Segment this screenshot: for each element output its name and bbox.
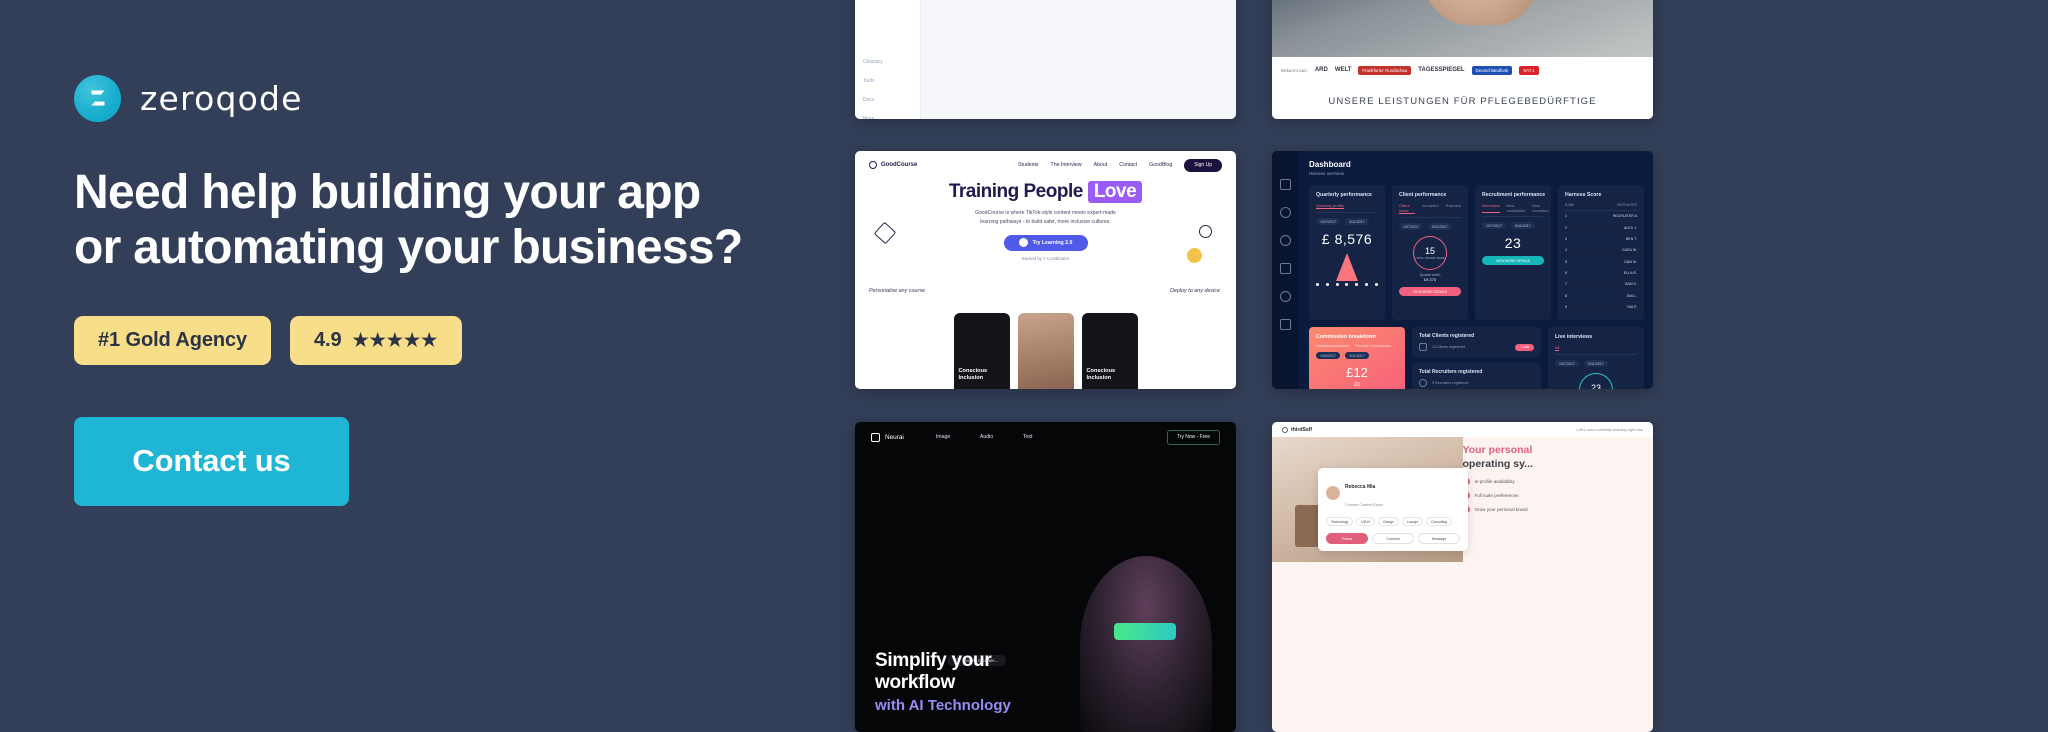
kpi-quarterly-performance: Quarterly performance Quarterly profits … xyxy=(1309,185,1385,320)
goodcourse-logo-text: GoodCourse xyxy=(881,162,917,168)
chart-peak xyxy=(1336,253,1358,281)
table-row: 4CARA W. xyxy=(1565,245,1637,256)
project-gallery: Glossary Tools Docs More Matic $0.47 BSC xyxy=(855,0,2048,732)
kpi-date-range[interactable]: 1/07/2017 5/11/2017 xyxy=(1482,222,1544,229)
badge-gold-agency-label: #1 Gold Agency xyxy=(98,329,247,352)
badge-rating: 4.9 ★★★★★ xyxy=(290,316,462,365)
active-users-note: 1,851 users currently cleaning right now xyxy=(1576,428,1643,432)
nav-item-the-interview[interactable]: The Interview xyxy=(1051,162,1082,168)
commission-tabs[interactable]: Harness commission Recruiter Commission xyxy=(1316,344,1398,348)
neurai-headline-2: workflow xyxy=(875,672,1011,695)
crypto-nav-item[interactable]: Glossary xyxy=(863,59,883,65)
dashboard-stat-column: Total Clients registered 13 Clients regi… xyxy=(1412,327,1541,389)
press-prefix: Bekannt aus: xyxy=(1281,68,1308,73)
message-button[interactable]: Message xyxy=(1418,533,1460,544)
date-to[interactable]: 3/11/2017 xyxy=(1345,352,1369,359)
nav-item-image[interactable]: Image xyxy=(936,434,950,440)
rank-number: 5 xyxy=(1565,260,1567,264)
table-row: 8AVA L. xyxy=(1565,291,1637,302)
profile-name: Rebecca Mia xyxy=(1345,484,1375,490)
tab-rejected[interactable]: Rejected xyxy=(1446,203,1461,214)
brand-name: zeroqode xyxy=(140,79,303,118)
live-interviews-title: Live interviews xyxy=(1555,334,1637,340)
gallery-card-crypto-dashboard[interactable]: Glossary Tools Docs More Matic $0.47 BSC xyxy=(855,0,1236,119)
stat-badge: 7 new xyxy=(1515,344,1534,351)
goodcourse-headline: Training People Love xyxy=(949,181,1142,203)
rank-number: 3 xyxy=(1565,237,1567,241)
note-personalise: Personalise any course xyxy=(869,288,925,295)
neurai-logo[interactable]: Neurai xyxy=(871,433,904,442)
avatar xyxy=(1187,248,1202,263)
col-rank: RANK xyxy=(1565,203,1574,207)
zeroqode-z-icon xyxy=(74,75,121,122)
stat-title: Total Clients registered xyxy=(1419,333,1534,339)
date-from[interactable]: 1/07/2017 xyxy=(1555,360,1579,367)
date-from[interactable]: 1/09/2017 xyxy=(1316,352,1340,359)
live-interviews-card: Live interviews All 1/07/2017 5/11/2017 … xyxy=(1548,327,1644,389)
live-interviews-value: 23 xyxy=(1591,383,1601,389)
date-from[interactable]: 1/07/2017 xyxy=(1316,218,1340,225)
tab-all[interactable]: All xyxy=(1555,345,1559,351)
headline-line-1: Your personal xyxy=(1463,444,1533,456)
rank-number: 9 xyxy=(1565,305,1567,309)
date-to[interactable]: 5/11/2017 xyxy=(1511,222,1535,229)
kpi-title: Recruitment performance xyxy=(1482,192,1544,198)
tab-offers-made[interactable]: Offers made xyxy=(1399,203,1415,214)
axis-dot xyxy=(1326,283,1329,286)
commission-value: £12 xyxy=(1316,365,1398,380)
briefcase-icon xyxy=(1419,343,1427,351)
date-from[interactable]: 1/07/2017 xyxy=(1399,223,1423,230)
doodle-circle-icon xyxy=(1199,225,1212,238)
axis-dot xyxy=(1375,283,1378,286)
bullet-text: Grow your personal brand xyxy=(1475,507,1528,512)
goodcourse-subtitle: GoodCourse is where TikTok-style content… xyxy=(855,209,1236,227)
rank-name: BEN T. xyxy=(1626,237,1637,241)
view-details-button[interactable]: VIEW MORE DETAILS xyxy=(1482,256,1544,265)
neurai-navbar[interactable]: Neurai Image · Audio · Text Try Now - Fr… xyxy=(855,422,1236,452)
briefcase-icon xyxy=(1019,238,1028,247)
goodcourse-logo[interactable]: GoodCourse xyxy=(869,161,917,169)
thirdself-topbar[interactable]: thirdSelf 1,851 users currently cleaning… xyxy=(1272,422,1653,437)
goodcourse-ring-icon xyxy=(869,161,877,169)
table-row: 9NIA P. xyxy=(1565,302,1637,313)
live-interviews-date-range[interactable]: 1/07/2017 5/11/2017 xyxy=(1555,360,1637,367)
bullet-text: In-profile availability xyxy=(1475,479,1515,484)
kpi-title: Quarterly performance xyxy=(1316,192,1378,198)
hero-section: zeroqode Need help building your app or … xyxy=(0,0,855,732)
phone-mockup-center xyxy=(1018,313,1074,389)
stat-total-clients: Total Clients registered 13 Clients regi… xyxy=(1412,327,1541,357)
dashboard-body: Dashboard Harness overview Quarterly per… xyxy=(1298,151,1653,389)
view-details-button[interactable]: VIEW MORE DETAILS xyxy=(1399,287,1461,296)
connect-button[interactable]: Connect xyxy=(1372,533,1414,544)
rank-name: CARA W. xyxy=(1622,248,1637,252)
badge-gold-agency: #1 Gold Agency xyxy=(74,316,271,365)
table-row: 2ALEX J. xyxy=(1565,222,1637,233)
tag: UI/UX xyxy=(1356,517,1375,526)
gallery-card-neurai[interactable]: Neurai Image · Audio · Text Try Now - Fr… xyxy=(855,422,1236,732)
contact-us-button[interactable]: Contact us xyxy=(74,417,349,506)
kpi-title: Client performance xyxy=(1399,192,1461,198)
press-logo: SAT.1 xyxy=(1519,66,1538,75)
phone-caption: Conscious Inclusion xyxy=(1087,368,1133,382)
gallery-card-thirdself[interactable]: thirdSelf 1,851 users currently cleaning… xyxy=(1272,422,1653,732)
star-icon-group: ★★★★★ xyxy=(353,331,439,349)
phone-mockup-left: Conscious Inclusion xyxy=(954,313,1010,389)
kpi-chart xyxy=(1316,251,1378,281)
profile-role: Creative Content Expert xyxy=(1345,503,1383,507)
stat-line: 13 Clients registered 7 new xyxy=(1419,343,1534,351)
feature-bullet: Grow your personal brand xyxy=(1463,506,1644,513)
nav-separator: · xyxy=(964,434,966,440)
crypto-sidebar-nav[interactable]: Glossary Tools Docs More xyxy=(863,59,883,119)
goodcourse-hero: Training People Love GoodCourse is where… xyxy=(855,181,1236,261)
care-services-strip: UNSERE LEISTUNGEN FÜR PFLEGEBEDÜRFTIGE xyxy=(1272,83,1653,119)
rank-name: AVA L. xyxy=(1627,294,1637,298)
tab-recruiter-commission[interactable]: Recruiter Commission xyxy=(1355,344,1390,348)
tag: Design xyxy=(1378,517,1399,526)
care-photo xyxy=(1272,0,1653,57)
headline-line-1: Need help building your app xyxy=(74,165,834,220)
kpi-tabs[interactable]: Offers made Accepted Rejected xyxy=(1399,203,1461,218)
stat-total-recruiters: Total Recruiters registered 9 Recruiters… xyxy=(1412,363,1541,389)
kpi-value: 23 xyxy=(1482,235,1544,251)
try-learning-button[interactable]: Try Learning 2.0 xyxy=(1004,235,1088,251)
commission-title: Commission breakdown xyxy=(1316,334,1398,340)
crypto-body: Matic $0.47 BSC $1.24 Celo $0.41 xyxy=(921,0,1236,119)
crypto-nav-item[interactable]: More xyxy=(863,116,883,119)
date-to[interactable]: 5/11/2017 xyxy=(1428,223,1452,230)
axis-dot xyxy=(1345,283,1348,286)
press-logo-row: Bekannt aus: ARD WELT Frankfurter Rundsc… xyxy=(1272,57,1653,83)
phone-caption: Conscious Inclusion xyxy=(959,368,1005,382)
tab-new-recruiters[interactable]: New recruiters xyxy=(1532,203,1548,213)
care-services-text: UNSERE LEISTUNGEN FÜR PFLEGEBEDÜRFTIGE xyxy=(1328,96,1596,107)
tag: Lounge xyxy=(1402,517,1423,526)
try-now-free-button[interactable]: Try Now - Free xyxy=(1167,430,1220,445)
network-icon[interactable] xyxy=(1280,235,1291,246)
commission-date-range[interactable]: 1/09/2017 3/11/2017 xyxy=(1316,352,1398,359)
rank-name: NIA P. xyxy=(1627,305,1637,309)
kpi-value: £ 8,576 xyxy=(1316,231,1378,247)
bullet-text: Full suite preferences xyxy=(1475,493,1519,498)
press-logo: TAGESSPIEGEL xyxy=(1418,67,1464,73)
backed-by-label: Backed by Y Combinator xyxy=(855,256,1236,261)
feature-bullet: In-profile availability xyxy=(1463,478,1644,485)
axis-dot xyxy=(1336,283,1339,286)
headline-plain: Training People xyxy=(949,181,1083,203)
press-logo: ARD xyxy=(1315,67,1328,73)
care-photo-face xyxy=(1417,0,1547,25)
stat-text: 13 Clients registered xyxy=(1432,345,1465,349)
thirdself-mark-icon xyxy=(1282,427,1288,433)
note-deploy: Deploy to any device xyxy=(1170,288,1220,295)
target-icon[interactable] xyxy=(1280,207,1291,218)
follow-button[interactable]: Follow xyxy=(1326,533,1368,544)
goodcourse-navbar[interactable]: GoodCourse Students The Interview About … xyxy=(855,151,1236,179)
table-row: 3BEN T. xyxy=(1565,234,1637,245)
nav-item-audio[interactable]: Audio xyxy=(980,434,993,440)
home-icon[interactable] xyxy=(1280,179,1291,190)
tab-new-candidates[interactable]: New candidates xyxy=(1507,203,1526,213)
avatar xyxy=(1326,486,1340,500)
table-row: 6ELLA R. xyxy=(1565,268,1637,279)
col-recruiter: RECRUITER xyxy=(1617,203,1637,207)
profile-card: Rebecca Mia Creative Content Expert Tech… xyxy=(1318,468,1468,551)
thirdself-logo-text: thirdSelf xyxy=(1291,427,1312,433)
rank-name: RECRUITER A xyxy=(1613,214,1637,218)
live-interviews-donut: 23 TOTAL INTERVIEWS xyxy=(1579,373,1613,389)
dashboard-kpi-row: Quarterly performance Quarterly profits … xyxy=(1309,185,1644,320)
rank-name: DAN M. xyxy=(1624,260,1637,264)
try-learning-label: Try Learning 2.0 xyxy=(1033,240,1073,246)
neurai-headline-1: Simplify your xyxy=(875,650,1011,673)
neurai-portrait xyxy=(1080,556,1212,732)
tag: Consulting xyxy=(1426,517,1452,526)
kpi-value: 15 xyxy=(1425,246,1435,256)
profile-header: Rebecca Mia Creative Content Expert xyxy=(1326,475,1460,511)
commission-breakdown-card: Commission breakdown Harness commission … xyxy=(1309,327,1405,389)
tab-quarterly-profits[interactable]: Quarterly profits xyxy=(1316,203,1344,209)
chart-icon[interactable] xyxy=(1280,319,1291,330)
page-title: Need help building your app or automatin… xyxy=(74,165,834,276)
date-to[interactable]: 5/11/2017 xyxy=(1345,218,1369,225)
rank-name: SAM K. xyxy=(1625,282,1637,286)
axis-dot xyxy=(1316,283,1319,286)
neurai-logo-text: Neurai xyxy=(885,434,904,441)
phone-mockup-right: Conscious Inclusion xyxy=(1082,313,1138,389)
harness-score-header: RANK RECRUITER xyxy=(1565,203,1637,211)
dashboard-second-row: Commission breakdown Harness commission … xyxy=(1309,327,1644,389)
rank-name: ELLA R. xyxy=(1624,271,1637,275)
harness-score-panel: Harness Score RANK RECRUITER 1RECRUITER … xyxy=(1558,185,1644,320)
quarter-worth-value: £9,375 xyxy=(1399,277,1461,282)
headline-line-2: operating sy... xyxy=(1463,458,1533,470)
profile-tags: Technology UI/UX Design Lounge Consultin… xyxy=(1326,517,1460,526)
rank-number: 4 xyxy=(1565,248,1567,252)
table-row: 7SAM K. xyxy=(1565,279,1637,290)
table-row: 5DAN M. xyxy=(1565,257,1637,268)
table-row: 1RECRUITER A xyxy=(1565,211,1637,222)
phone-mockups: Conscious Inclusion Conscious Inclusion xyxy=(889,313,1202,389)
crypto-nav-item[interactable]: Docs xyxy=(863,97,883,103)
harness-score-title: Harness Score xyxy=(1565,192,1637,198)
nav-item-text[interactable]: Text xyxy=(1023,434,1033,440)
brand-logo[interactable]: zeroqode xyxy=(74,74,855,122)
date-to[interactable]: 5/11/2017 xyxy=(1584,360,1608,367)
kpi-date-range[interactable]: 1/07/2017 5/11/2017 xyxy=(1316,218,1378,225)
nav-separator: · xyxy=(1007,434,1009,440)
commission-secondary: £0 xyxy=(1316,382,1398,388)
thirdself-logo[interactable]: thirdSelf xyxy=(1282,427,1312,433)
neurai-hero-text: Simplify your workflow with AI Technolog… xyxy=(875,650,1011,716)
date-from[interactable]: 1/07/2017 xyxy=(1482,222,1506,229)
profile-actions[interactable]: Follow Connect Message xyxy=(1326,533,1460,544)
axis-dot xyxy=(1355,283,1358,286)
kpi-tabs[interactable]: Quarterly profits xyxy=(1316,203,1378,213)
tab-accepted[interactable]: Accepted xyxy=(1422,203,1438,214)
kpi-axis xyxy=(1316,283,1378,286)
crypto-sidebar[interactable]: Glossary Tools Docs More xyxy=(855,0,921,119)
axis-dot xyxy=(1365,283,1368,286)
stat-line: 9 Recruiters registered xyxy=(1419,379,1534,387)
stat-text: 9 Recruiters registered xyxy=(1432,381,1468,385)
nav-item-contact[interactable]: Contact xyxy=(1119,162,1137,168)
headline-highlight: Love xyxy=(1088,181,1142,203)
rank-name: ALEX J. xyxy=(1624,226,1637,230)
dashboard-title: Dashboard xyxy=(1309,160,1644,169)
rank-number: 7 xyxy=(1565,282,1567,286)
kpi-client-performance: Client performance Offers made Accepted … xyxy=(1392,185,1468,320)
live-interviews-tabs[interactable]: All xyxy=(1555,345,1637,355)
badge-group: #1 Gold Agency 4.9 ★★★★★ xyxy=(74,316,855,365)
nav-item-goodblog[interactable]: GoodBlog xyxy=(1149,162,1172,168)
thirdself-copy: Your personal operating sy... In-profile… xyxy=(1463,444,1644,513)
gallery-card-goodcourse[interactable]: GoodCourse Students The Interview About … xyxy=(855,151,1236,389)
headline-line-2: or automating your business? xyxy=(74,220,834,275)
signup-button[interactable]: Sign Up xyxy=(1184,159,1222,172)
dashboard-subtitle: Harness overview xyxy=(1309,171,1644,176)
neurai-mark-icon xyxy=(871,433,880,442)
kpi-tabs[interactable]: Interviews New candidates New recruiters xyxy=(1482,203,1544,217)
kpi-date-range[interactable]: 1/07/2017 5/11/2017 xyxy=(1399,223,1461,230)
press-logo: Frankfurter Rundschau xyxy=(1358,66,1411,75)
gallery-card-care-service[interactable]: Bekannt aus: ARD WELT Frankfurter Rundsc… xyxy=(1272,0,1653,119)
network-icon xyxy=(1419,379,1427,387)
nav-item-students[interactable]: Students xyxy=(1018,162,1038,168)
rank-number: 8 xyxy=(1565,294,1567,298)
kpi-donut-caption: TOTAL OFFERS MADE xyxy=(1415,257,1445,260)
people-icon[interactable] xyxy=(1280,291,1291,302)
tag: Technology xyxy=(1326,517,1353,526)
tab-interviews[interactable]: Interviews xyxy=(1482,203,1500,213)
feature-bullet: Full suite preferences xyxy=(1463,492,1644,499)
press-logo: WELT xyxy=(1335,67,1352,73)
kpi-donut: 15 TOTAL OFFERS MADE xyxy=(1413,236,1447,270)
subtitle-line-1: GoodCourse is where TikTok-style content… xyxy=(855,209,1236,218)
neurai-visor-graphic xyxy=(1114,623,1176,640)
gallery-card-recruitment-dashboard[interactable]: Dashboard Harness overview Quarterly per… xyxy=(1272,151,1653,389)
press-logo: Deutschlandfunk xyxy=(1472,66,1513,75)
rank-number: 2 xyxy=(1565,226,1567,230)
nav-item-about[interactable]: About xyxy=(1094,162,1108,168)
tab-harness-commission[interactable]: Harness commission xyxy=(1316,344,1349,348)
stat-title: Total Recruiters registered xyxy=(1419,369,1534,375)
subtitle-line-2: learning pathways - to build safer, more… xyxy=(855,218,1236,227)
rank-number: 1 xyxy=(1565,214,1567,218)
kpi-recruitment-performance: Recruitment performance Interviews New c… xyxy=(1475,185,1551,320)
rating-value: 4.9 xyxy=(314,329,342,352)
thirdself-headline: Your personal operating sy... xyxy=(1463,444,1644,471)
dashboard-sidebar[interactable] xyxy=(1272,151,1298,389)
crypto-nav-item[interactable]: Tools xyxy=(863,78,883,84)
rank-number: 6 xyxy=(1565,271,1567,275)
neurai-headline-accent: with AI Technology xyxy=(875,697,1011,716)
briefcase-icon[interactable] xyxy=(1280,263,1291,274)
